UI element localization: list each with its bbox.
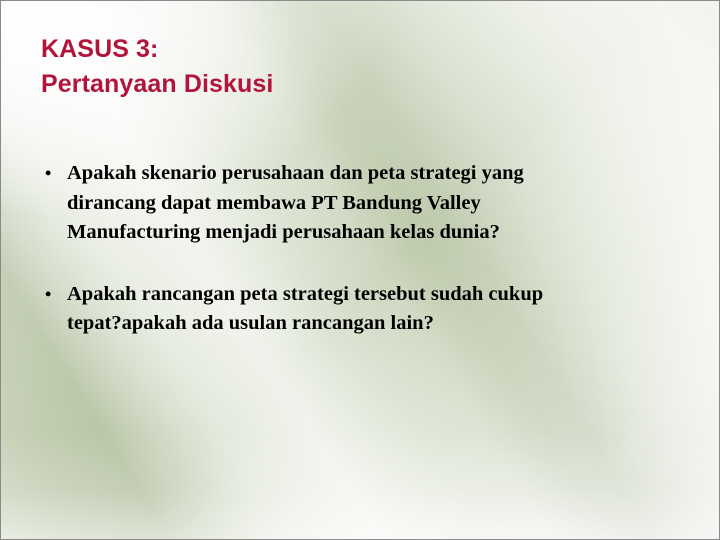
slide-title-line-2: Pertanyaan Diskusi	[41, 67, 641, 102]
slide-title: KASUS 3: Pertanyaan Diskusi	[41, 32, 641, 102]
bullet-point-icon: •	[41, 280, 67, 310]
bullet-item-text: Apakah rancangan peta strategi tersebut …	[67, 280, 669, 339]
bullet-item: • Apakah rancangan peta strategi tersebu…	[41, 280, 669, 339]
bullet-point-icon: •	[41, 159, 67, 189]
slide-body: • Apakah skenario perusahaan dan peta st…	[41, 159, 669, 339]
bullet-item-text: Apakah skenario perusahaan dan peta stra…	[67, 159, 669, 248]
bullet-item: • Apakah skenario perusahaan dan peta st…	[41, 159, 669, 248]
slide-title-line-1: KASUS 3:	[41, 32, 641, 67]
presentation-slide: KASUS 3: Pertanyaan Diskusi • Apakah ske…	[0, 0, 720, 540]
